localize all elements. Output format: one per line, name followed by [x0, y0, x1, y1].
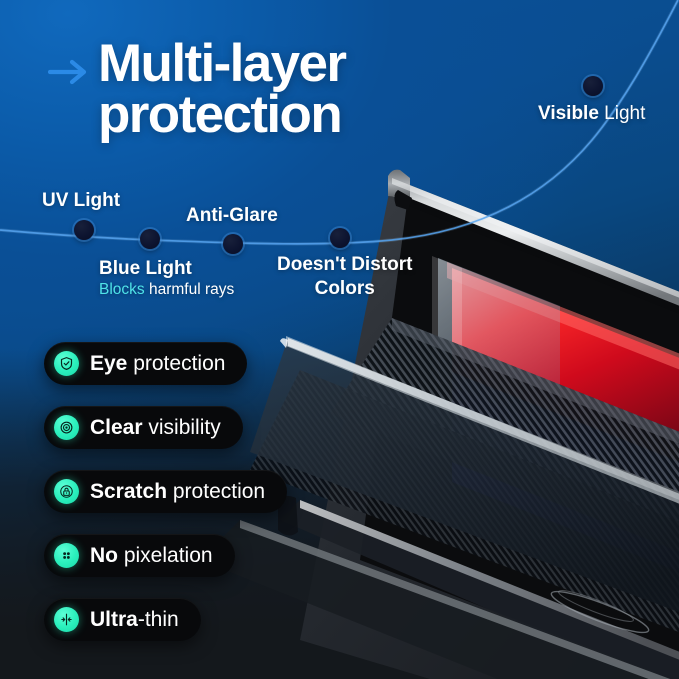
- callout-doesnt-distort-text: Doesn't Distort: [277, 254, 412, 275]
- callout-dot-uv-light: [74, 220, 94, 240]
- callout-visible-light-rest: Light: [599, 103, 645, 124]
- feature-0-bold: Eye: [90, 352, 127, 375]
- feature-0-rest: protection: [127, 352, 225, 375]
- callout-uv-light-text: UV Light: [42, 190, 120, 211]
- feature-pill-ultra-thin[interactable]: Ultra-thin: [44, 598, 201, 641]
- eye-icon: [54, 415, 79, 440]
- compress-icon: [54, 607, 79, 632]
- callout-anti-glare-text: Anti-Glare: [186, 205, 278, 226]
- callout-dot-visible-light: [583, 76, 603, 96]
- feature-2-rest: protection: [167, 480, 265, 503]
- feature-pill-eye-protection[interactable]: Eye protection: [44, 342, 247, 385]
- lock-icon: [54, 479, 79, 504]
- feature-1-bold: Clear: [90, 416, 143, 439]
- feature-pill-label: Eye protection: [90, 353, 225, 374]
- feature-pill-label: Scratch protection: [90, 481, 265, 502]
- feature-3-rest: pixelation: [118, 544, 213, 567]
- page-title: Multi-layer protection: [98, 38, 428, 141]
- callout-blue-light-sub-highlight: Blocks: [99, 281, 145, 298]
- arrow-right-icon: [48, 57, 90, 87]
- pixel-grid-icon: [54, 543, 79, 568]
- callout-label-doesnt-distort: Doesn't Distort Colors: [277, 253, 412, 300]
- callout-label-visible-light: Visible Light: [538, 103, 645, 125]
- shield-check-icon: [54, 351, 79, 376]
- callout-blue-light-text: Blue Light: [99, 258, 192, 279]
- feature-pill-scratch-protection[interactable]: Scratch protection: [44, 470, 287, 513]
- feature-pill-label: No pixelation: [90, 545, 213, 566]
- product-feature-image: Multi-layer protection UV Light Blue Lig…: [0, 0, 679, 679]
- callout-blue-light-sub: Blocks harmful rays: [99, 281, 234, 299]
- callout-visible-light-bold: Visible: [538, 103, 599, 124]
- callout-blue-light-sub-rest: harmful rays: [145, 281, 235, 298]
- feature-pill-label: Clear visibility: [90, 417, 221, 438]
- callout-dot-blue-light: [140, 229, 160, 249]
- headline-line-1: Multi-layer: [98, 38, 428, 89]
- feature-pill-clear-visibility[interactable]: Clear visibility: [44, 406, 243, 449]
- callout-dot-anti-glare: [223, 234, 243, 254]
- callout-dot-doesnt-distort: [330, 228, 350, 248]
- callout-doesnt-distort-text-2: Colors: [277, 277, 412, 301]
- callout-label-anti-glare: Anti-Glare: [186, 205, 278, 227]
- feature-1-rest: visibility: [143, 416, 221, 439]
- headline-line-2: protection: [98, 89, 428, 140]
- feature-pill-no-pixelation[interactable]: No pixelation: [44, 534, 235, 577]
- feature-4-rest: -thin: [138, 608, 179, 631]
- feature-pill-label: Ultra-thin: [90, 609, 179, 630]
- feature-2-bold: Scratch: [90, 480, 167, 503]
- callout-label-uv-light: UV Light: [42, 190, 120, 212]
- feature-4-bold: Ultra: [90, 608, 138, 631]
- callout-label-blue-light: Blue Light Blocks harmful rays: [99, 258, 234, 299]
- feature-3-bold: No: [90, 544, 118, 567]
